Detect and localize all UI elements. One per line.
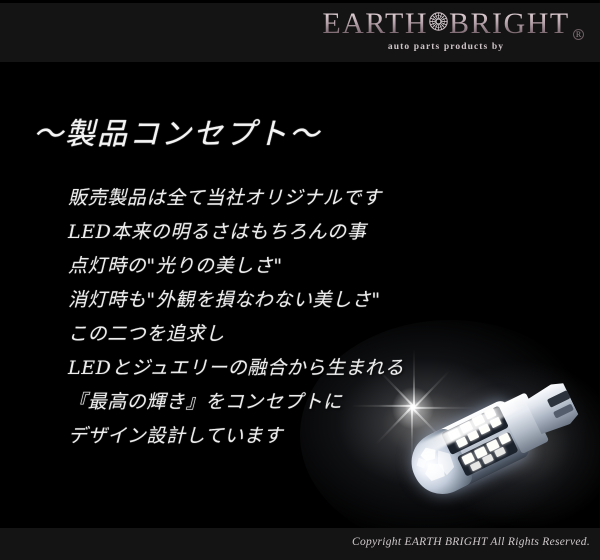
concept-line: 『最高の輝き』をコンセプトに (68, 385, 498, 419)
brand-logo: EARTH (306, 7, 586, 52)
compass-rose-medallion-icon (429, 12, 448, 31)
brand-title: EARTH (322, 7, 569, 41)
concept-line: LED本来の明るさはもちろんの事 (68, 215, 498, 249)
concept-line: この二つを追求し (68, 317, 498, 351)
concept-line: 販売製品は全て当社オリジナルです (68, 181, 498, 215)
concept-body-text: 販売製品は全て当社オリジナルです LED本来の明るさはもちろんの事 点灯時の"光… (68, 181, 498, 453)
brand-tagline: auto parts products by (306, 42, 586, 52)
concept-line: デザイン設計しています (68, 419, 498, 453)
brand-name-bright: BRIGHT (449, 7, 570, 40)
footer-band: Copyright EARTH BRIGHT All Rights Reserv… (0, 528, 600, 560)
concept-line: LEDとジュエリーの融合から生まれる (68, 351, 498, 385)
concept-line: 消灯時も"外観を損なわない美しさ" (68, 283, 498, 317)
brand-name-earth: EARTH (322, 7, 428, 40)
concept-line: 点灯時の"光りの美しさ" (68, 249, 498, 283)
product-concept-page: EARTH (0, 0, 600, 560)
copyright-text: Copyright EARTH BRIGHT All Rights Reserv… (352, 536, 590, 548)
page-title: 〜製品コンセプト〜 (33, 113, 321, 157)
registered-trademark-icon: R (573, 29, 584, 40)
header-band: EARTH (0, 3, 600, 62)
